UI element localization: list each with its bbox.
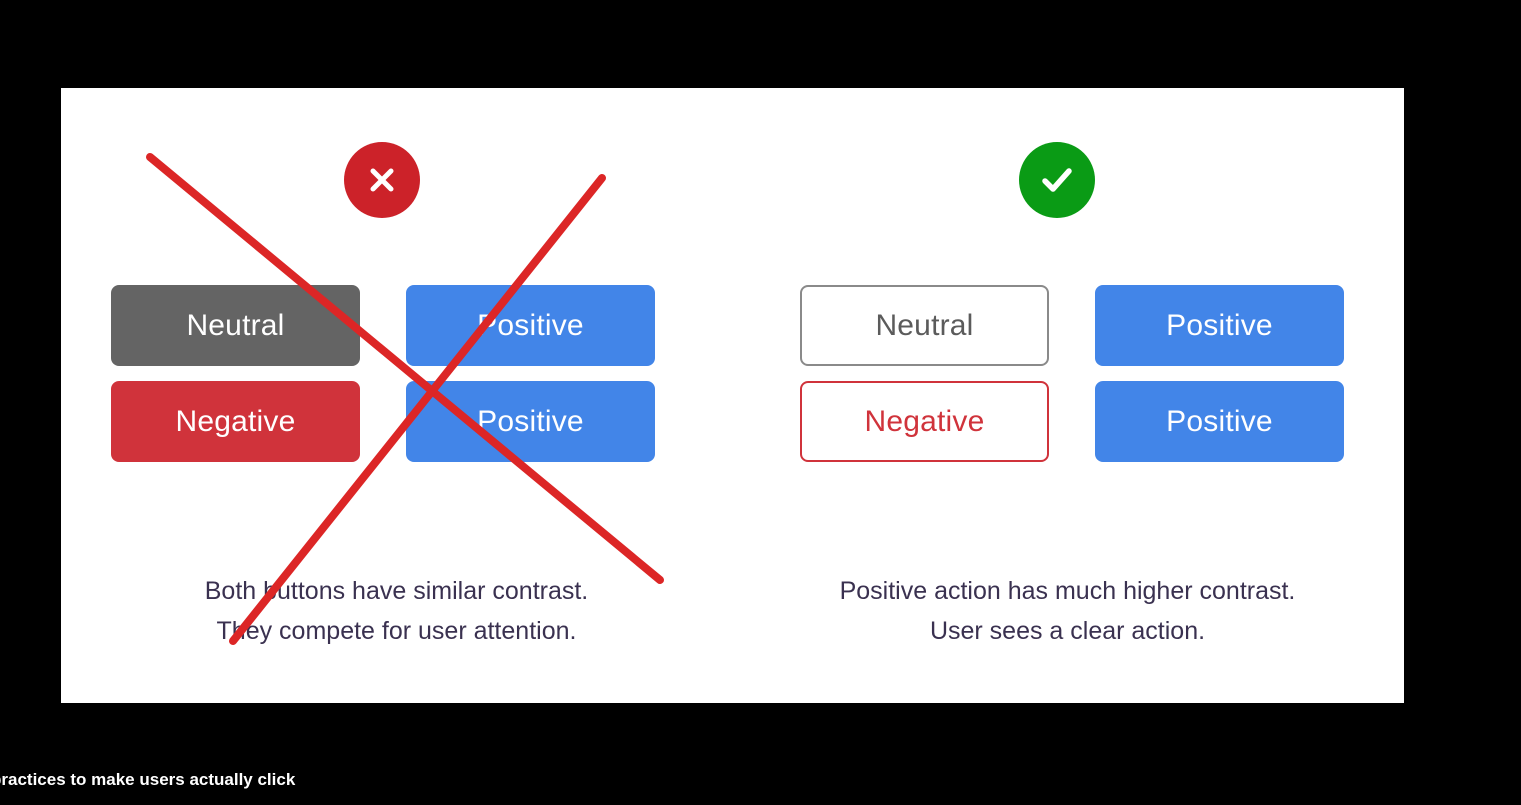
caption-line-1: Positive action has much higher contrast… <box>772 571 1363 611</box>
button-positive-solid-2[interactable]: Positive <box>406 381 655 462</box>
button-positive-solid-3[interactable]: Positive <box>1095 285 1344 366</box>
screen-root: Neutral Positive Negative Positive Both … <box>0 0 1521 805</box>
button-grid-good: Neutral Positive Negative Positive <box>800 285 1344 462</box>
button-neutral-outline[interactable]: Neutral <box>800 285 1049 366</box>
footer-caption-text: practices to make users actually click <box>0 770 520 790</box>
comparison-card: Neutral Positive Negative Positive Both … <box>61 88 1404 703</box>
button-positive-solid-4[interactable]: Positive <box>1095 381 1344 462</box>
check-circle-icon <box>1019 142 1095 218</box>
caption-line-1: Both buttons have similar contrast. <box>101 571 692 611</box>
caption-line-2: User sees a clear action. <box>772 611 1363 651</box>
button-grid-bad: Neutral Positive Negative Positive <box>111 285 655 462</box>
caption-line-2: They compete for user attention. <box>101 611 692 651</box>
x-circle-icon <box>344 142 420 218</box>
panel-good-example: Neutral Positive Negative Positive Posit… <box>732 88 1403 703</box>
caption-bad-example: Both buttons have similar contrast. They… <box>61 571 732 651</box>
button-positive-solid-1[interactable]: Positive <box>406 285 655 366</box>
panel-bad-example: Neutral Positive Negative Positive Both … <box>61 88 732 703</box>
button-neutral-solid[interactable]: Neutral <box>111 285 360 366</box>
button-negative-solid[interactable]: Negative <box>111 381 360 462</box>
button-negative-outline[interactable]: Negative <box>800 381 1049 462</box>
caption-good-example: Positive action has much higher contrast… <box>732 571 1403 651</box>
footer-caption: practices to make users actually click <box>0 770 520 790</box>
